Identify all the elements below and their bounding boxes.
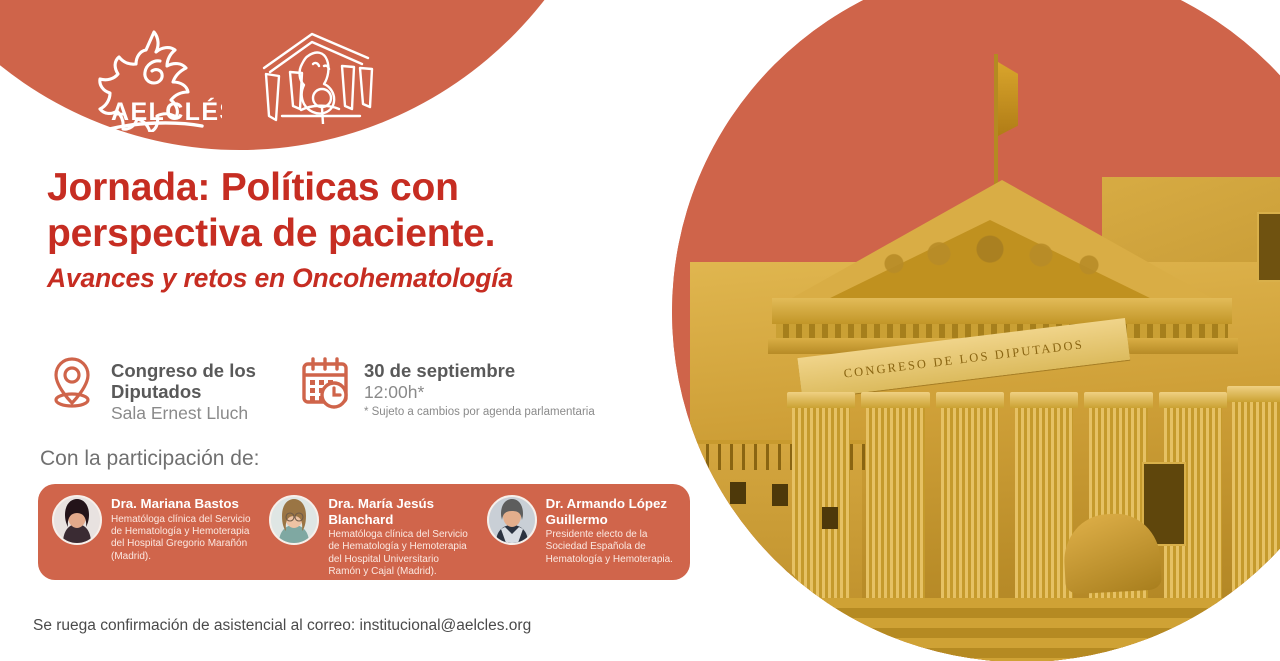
building-steps (672, 598, 1280, 661)
building-illustration: CONGRESO DE LOS DIPUTADOS (672, 0, 1280, 661)
spanish-flag (998, 62, 1018, 136)
page-title: Jornada: Políticas con perspectiva de pa… (47, 165, 667, 257)
participation-label: Con la participación de: (40, 447, 259, 471)
event-date-text: 30 de septiembre 12:00h* * Sujeto a camb… (364, 355, 595, 420)
page-subtitle: Avances y retos en Oncohematología (47, 263, 667, 294)
speaker-info: Dra. Mariana Bastos Hematóloga clínica d… (111, 495, 251, 563)
poster-canvas: CONGRESO DE LOS DIPUTADOS (0, 0, 1280, 661)
building-small-window (730, 482, 746, 504)
speaker-name: Dra. María Jesús Blanchard (328, 496, 468, 527)
event-location-text: Congreso de los Diputados Sala Ernest Ll… (111, 355, 256, 424)
building-window (1257, 212, 1280, 282)
speaker-info: Dr. Armando López Guillermo Presidente e… (546, 495, 686, 566)
congreso-diputados-logo-mark (256, 24, 376, 124)
calendar-clock-icon (300, 355, 350, 411)
map-pin-icon (47, 355, 97, 411)
avatar (269, 495, 319, 545)
title-line-2: perspectiva de paciente. (47, 212, 495, 255)
event-time: 12:00h* (364, 381, 595, 403)
building-entablature (772, 298, 1232, 324)
aelcles-logo-mark: AELCLÉS (92, 24, 222, 132)
speaker-role: Hematóloga clínica del Servicio de Hemat… (328, 529, 468, 579)
speaker-card: Dra. Mariana Bastos Hematóloga clínica d… (38, 495, 255, 563)
speaker-name: Dr. Armando López Guillermo (546, 496, 686, 527)
event-day: 30 de septiembre (364, 360, 595, 381)
event-date: 30 de septiembre 12:00h* * Sujeto a camb… (300, 355, 595, 424)
congreso-diputados-logo (256, 24, 376, 124)
aelcles-logo: AELCLÉS (92, 24, 222, 132)
event-location: Congreso de los Diputados Sala Ernest Ll… (47, 355, 256, 424)
avatar (52, 495, 102, 545)
flagpole (994, 54, 998, 186)
logo-group: AELCLÉS (92, 24, 376, 132)
speaker-card: Dra. María Jesús Blanchard Hematóloga cl… (255, 495, 472, 579)
speaker-role: Hematóloga clínica del Servicio de Hemat… (111, 514, 251, 564)
speaker-info: Dra. María Jesús Blanchard Hematóloga cl… (328, 495, 468, 579)
congreso-de-los-diputados-photo: CONGRESO DE LOS DIPUTADOS (672, 0, 1280, 661)
title-line-1: Jornada: Políticas con (47, 166, 459, 209)
location-name-line-1: Congreso de los (111, 360, 256, 381)
event-details: Congreso de los Diputados Sala Ernest Ll… (47, 355, 595, 424)
location-name-line-2: Diputados (111, 381, 256, 402)
building-small-window (772, 484, 788, 506)
rsvp-text: Se ruega confirmación de asistencial al … (33, 617, 531, 635)
pediment-sculpture-frieze (840, 224, 1140, 290)
speaker-card: Dr. Armando López Guillermo Presidente e… (473, 495, 690, 566)
avatar (487, 495, 537, 545)
poster-title-block: Jornada: Políticas con perspectiva de pa… (47, 165, 667, 294)
building-small-window (822, 507, 838, 529)
event-date-note: * Sujeto a cambios por agenda parlamenta… (364, 405, 595, 420)
speakers-panel: Dra. Mariana Bastos Hematóloga clínica d… (38, 484, 690, 580)
speaker-name: Dra. Mariana Bastos (111, 496, 251, 512)
location-room: Sala Ernest Lluch (111, 402, 256, 424)
speaker-role: Presidente electo de la Sociedad Español… (546, 529, 686, 566)
